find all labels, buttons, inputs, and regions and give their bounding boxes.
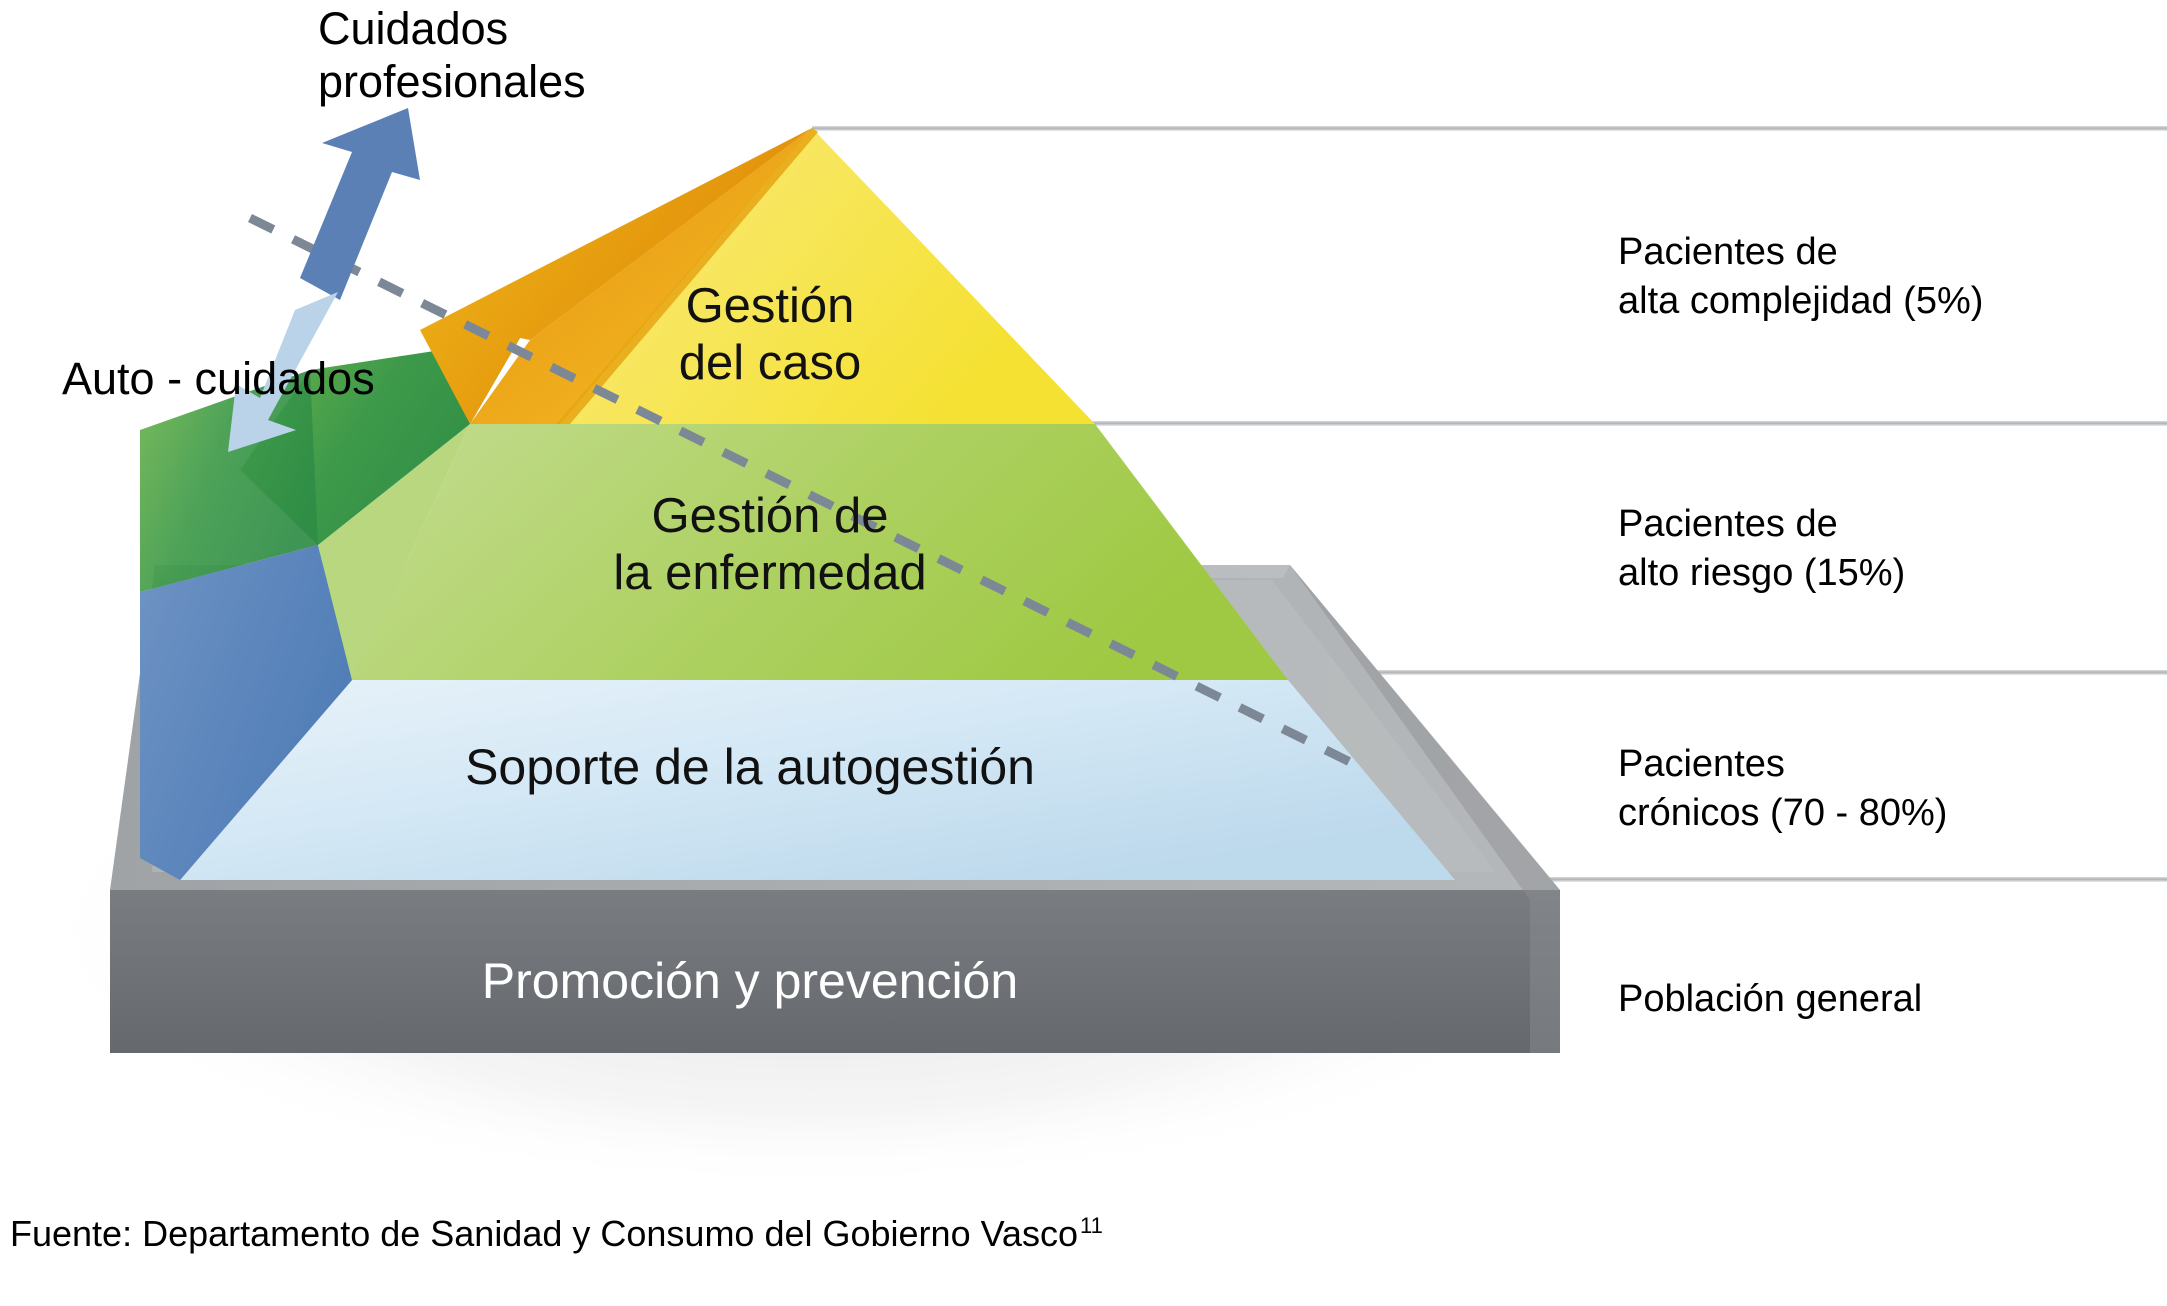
tier-label-gestion-de-la-enfermedad: Gestión de la enfermedad <box>480 488 1060 602</box>
leader-line-3 <box>1298 670 2167 675</box>
tier-label-gestion-del-caso: Gestión del caso <box>560 278 980 392</box>
footer-source-text: Fuente: Departamento de Sanidad y Consum… <box>10 1213 1078 1254</box>
footer-source-note: Fuente: Departamento de Sanidad y Consum… <box>10 1213 1103 1255</box>
slide-canvas: Cuidados profesionales Auto - cuidados G… <box>0 0 2167 1306</box>
leader-line-4 <box>1500 877 2167 882</box>
callout-cuidados-profesionales: Cuidados profesionales <box>318 2 586 108</box>
callout-auto-cuidados: Auto - cuidados <box>62 352 375 405</box>
tier-label-soporte-de-la-autogestion: Soporte de la autogestión <box>350 738 1150 796</box>
leader-line-1 <box>812 126 2167 131</box>
segment-label-poblacion-general: Población general <box>1618 975 1922 1024</box>
segment-label-cronicos: Pacientes crónicos (70 - 80%) <box>1618 740 1947 837</box>
tier-label-promocion-y-prevencion: Promoción y prevención <box>300 952 1200 1010</box>
arrow-up-dark-blue <box>300 108 420 300</box>
segment-label-alto-riesgo: Pacientes de alto riesgo (15%) <box>1618 500 1905 597</box>
pyramid-diagram-graphic <box>0 0 2167 1306</box>
footer-source-superscript: 11 <box>1080 1213 1103 1238</box>
segment-label-alta-complejidad: Pacientes de alta complejidad (5%) <box>1618 228 1983 325</box>
leader-line-2 <box>1000 421 2167 426</box>
